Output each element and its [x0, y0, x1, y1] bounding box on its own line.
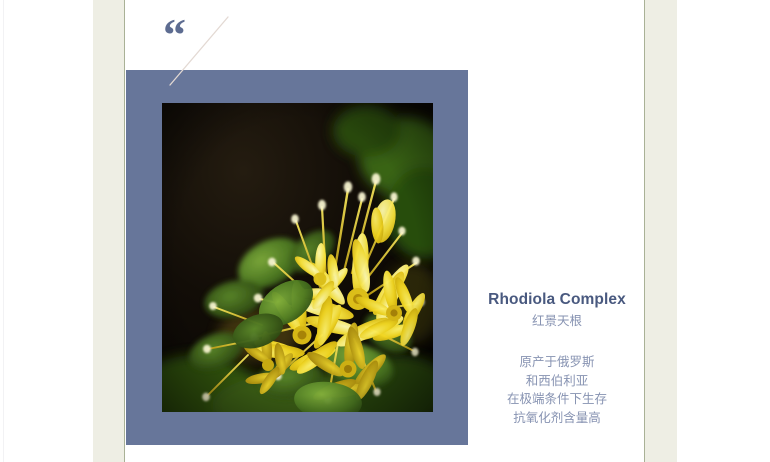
decorative-band-right-rule [644, 0, 645, 462]
feature-line: 和西伯利亚 [478, 372, 636, 391]
feature-line: 原产于俄罗斯 [478, 353, 636, 372]
product-text-column: Rhodiola Complex 红景天根 原产于俄罗斯 和西伯利亚 在极端条件… [478, 290, 636, 427]
feature-list: 原产于俄罗斯 和西伯利亚 在极端条件下生存 抗氧化剂含量高 [478, 353, 636, 427]
feature-line: 抗氧化剂含量高 [478, 409, 636, 428]
feature-line: 在极端条件下生存 [478, 390, 636, 409]
open-quote-icon: “ [163, 12, 185, 58]
rhodiola-flower-photo [162, 103, 433, 412]
page-edge-rule [3, 0, 4, 462]
product-photo-frame [162, 103, 433, 412]
decorative-band-left-rule [124, 0, 125, 462]
product-title: Rhodiola Complex [478, 290, 636, 309]
decorative-band-left [93, 0, 125, 462]
decorative-band-right [645, 0, 677, 462]
slide-canvas: “ Rhodiola Complex 红景天根 原产于俄罗斯 和西伯利亚 在极端… [0, 0, 770, 462]
product-subtitle: 红景天根 [478, 313, 636, 330]
